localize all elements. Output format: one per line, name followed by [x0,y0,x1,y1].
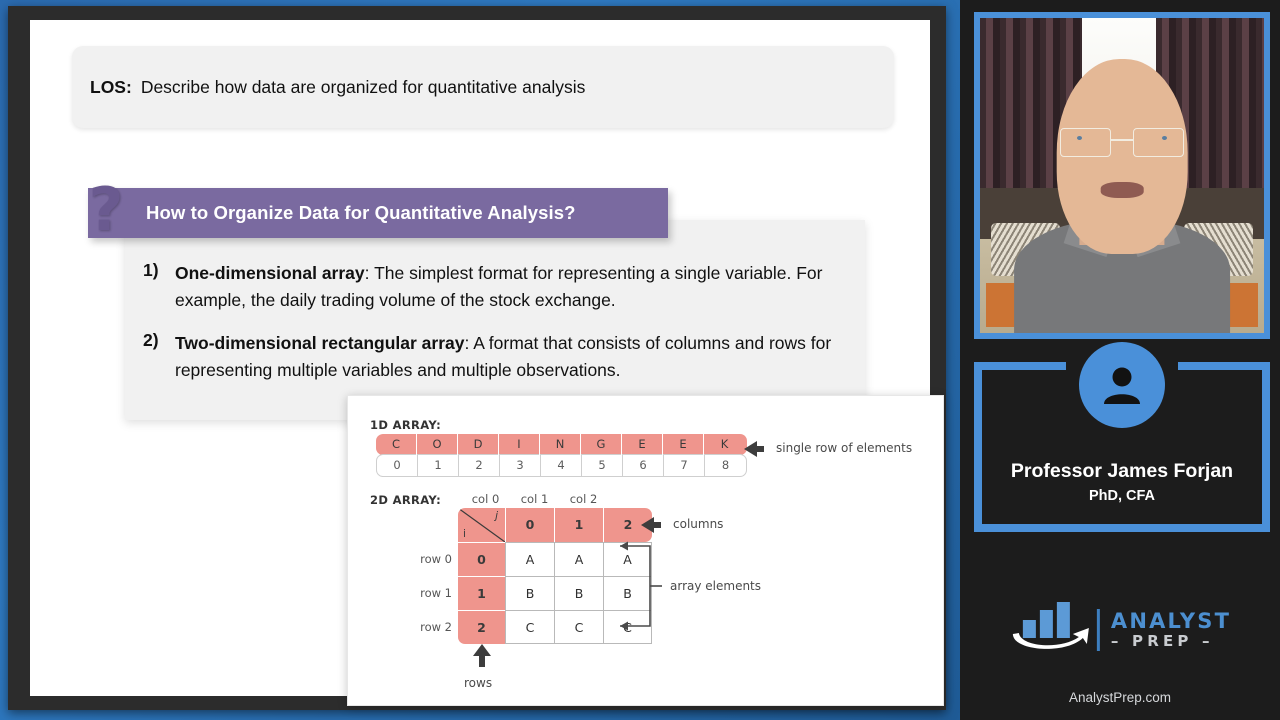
twod-col-header: 0 [505,508,554,542]
section-banner: ? How to Organize Data for Quantitative … [88,188,668,238]
screen: LOS: Describe how data are organized for… [0,0,1280,720]
twod-row-caption: row 2 [394,610,452,644]
list-item: 1) One-dimensional array: The simplest f… [143,260,873,315]
list-item-term: One-dimensional array [175,263,365,283]
array-elements-bracket-icon [606,536,676,636]
video-glasses-bridge [1111,139,1134,141]
presenter-plate: Professor James Forjan PhD, CFA [974,362,1270,532]
person-avatar-icon [1079,342,1165,428]
oned-value-cell: I [499,434,540,455]
oned-annotation: single row of elements [776,441,912,455]
oned-value-cell: E [663,434,704,455]
rows-annotation: rows [464,676,492,690]
columns-annotation: columns [673,517,723,531]
oned-value-cell: O [417,434,458,455]
slide-frame: LOS: Describe how data are organized for… [8,6,946,710]
twod-col-caption: col 2 [559,492,608,506]
video-mouth [1101,182,1144,198]
rows-arrow-tail-icon [479,655,485,667]
array-elements-annotation: array elements [670,579,761,593]
twod-corner-cell: i j [458,508,505,542]
logo-wordmark: ANALYST – PREP – [1111,610,1231,651]
logo-secondary-text: – PREP – [1111,632,1231,651]
video-glasses-right-lens [1133,128,1184,156]
frame-bottom-bar [974,524,1270,532]
slide-canvas: LOS: Describe how data are organized for… [30,20,930,696]
twod-data-cell: A [554,542,603,576]
sidebar: Professor James Forjan PhD, CFA ANALYST … [960,0,1280,720]
oned-values-row: C O D I N G E E K [376,434,747,455]
video-frame [980,18,1264,333]
twod-row-header: 1 [458,576,505,610]
twod-data-cell: C [505,610,554,644]
frame-right-bar [1262,362,1270,532]
oned-value-cell: G [581,434,622,455]
section-banner-title: How to Organize Data for Quantitative An… [146,202,576,224]
presenter-credentials: PhD, CFA [974,488,1270,504]
oned-array-table: C O D I N G E E K 0 1 [376,434,747,477]
logo-divider [1097,609,1100,651]
oned-arrow-tail-icon [754,446,764,452]
twod-data-cell: B [505,576,554,610]
array-diagram-card: 1D ARRAY: 2D ARRAY: C O D I N G E E [347,395,944,706]
oned-index-cell: 8 [705,455,746,476]
presenter-name: Professor James Forjan [974,460,1270,483]
video-eye-left [1077,136,1082,140]
los-text: Describe how data are organized for quan… [141,77,586,98]
twod-col-caption: col 0 [461,492,510,506]
columns-arrow-tail-icon [651,522,661,528]
twod-array-label: 2D ARRAY: [370,493,441,507]
video-glasses-left-lens [1060,128,1111,156]
twod-index-i-label: i [463,528,466,540]
twod-data-cell: A [505,542,554,576]
oned-value-cell: K [704,434,745,455]
list-item-body: One-dimensional array: The simplest form… [175,260,873,315]
list-item-number: 1) [143,260,175,315]
twod-row-header: 0 [458,542,505,576]
twod-col-header: 1 [554,508,603,542]
los-label: LOS: [90,77,132,98]
brand-logo-inner: ANALYST – PREP – [1009,604,1231,656]
person-glyph-icon [1097,360,1147,410]
oned-index-cell: 4 [541,455,582,476]
twod-col-captions: col 0 col 1 col 2 [461,492,608,506]
logo-swoosh-icon [1009,622,1093,656]
oned-value-cell: D [458,434,499,455]
oned-index-cell: 6 [623,455,664,476]
oned-index-cell: 1 [418,455,459,476]
list-item-body: Two-dimensional rectangular array: A for… [175,330,873,385]
oned-array-label: 1D ARRAY: [370,418,441,432]
presenter-video[interactable] [974,12,1270,339]
frame-top-right-bar [1178,362,1270,370]
oned-index-cell: 7 [664,455,705,476]
oned-index-cell: 5 [582,455,623,476]
list-item-term: Two-dimensional rectangular array [175,333,464,353]
slide-stage: LOS: Describe how data are organized for… [0,0,960,720]
oned-value-cell: C [376,434,417,455]
frame-top-left-bar [974,362,1066,370]
brand-logo: ANALYST – PREP – [960,604,1280,666]
list-item-number: 2) [143,330,175,385]
bar-chart-swoosh-icon [1009,604,1093,656]
twod-row-caption: row 1 [394,576,452,610]
oned-index-cell: 3 [500,455,541,476]
twod-data-cell: B [554,576,603,610]
frame-left-bar [974,362,982,532]
twod-row-caption: row 0 [394,542,452,576]
los-box: LOS: Describe how data are organized for… [72,46,894,128]
question-mark-icon: ? [82,182,130,242]
twod-row-header: 2 [458,610,505,644]
oned-index-row: 0 1 2 3 4 5 6 7 8 [376,454,747,477]
oned-index-cell: 2 [459,455,500,476]
oned-value-cell: N [540,434,581,455]
twod-col-caption: col 1 [510,492,559,506]
twod-index-j-label: j [495,510,498,522]
definition-list: 1) One-dimensional array: The simplest f… [143,260,873,399]
twod-data-cell: C [554,610,603,644]
oned-index-cell: 0 [377,455,418,476]
oned-value-cell: E [622,434,663,455]
list-item: 2) Two-dimensional rectangular array: A … [143,330,873,385]
site-url: AnalystPrep.com [960,690,1280,705]
logo-primary-text: ANALYST [1111,610,1231,632]
